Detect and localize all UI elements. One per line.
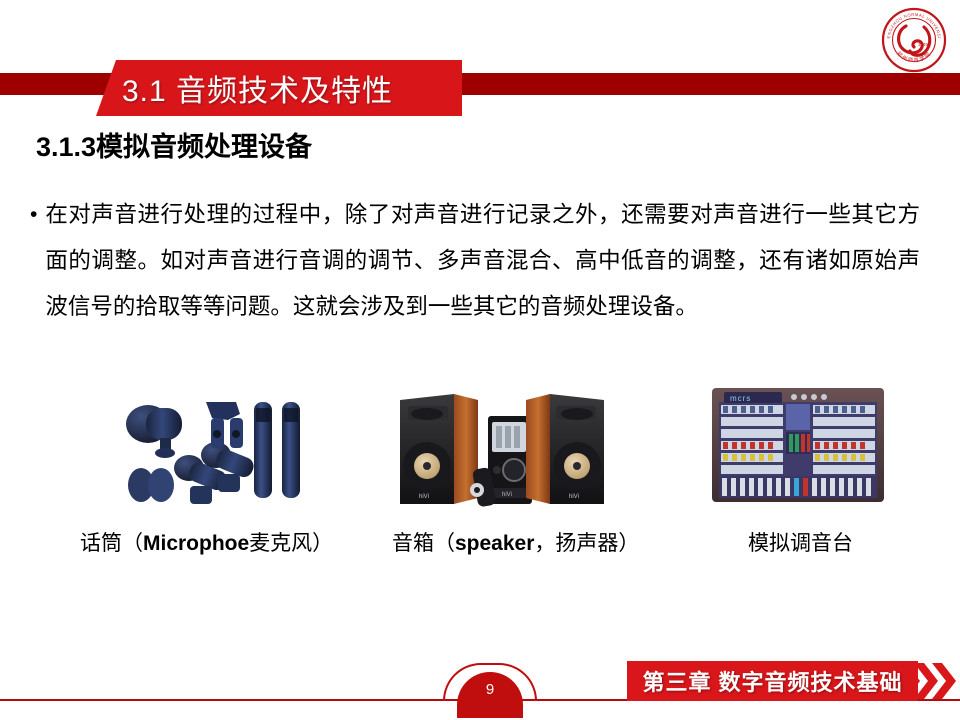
svg-text:hiVi: hiVi	[419, 494, 429, 500]
page-number: 9	[457, 672, 523, 706]
caption-speaker-prefix: 音箱（	[392, 532, 455, 555]
content-body: • 在对声音进行处理的过程中，除了对声音进行记录之外，还需要对声音进行一些其它方…	[30, 192, 920, 330]
section-title-text: 3.1 音频技术及特性	[122, 60, 462, 116]
caption-microphone-prefix: 话筒（	[80, 532, 143, 555]
bullet-marker-icon: •	[30, 192, 45, 238]
svg-text:hiVi: hiVi	[502, 492, 512, 498]
caption-speaker-suffix: ，扬声器）	[534, 532, 639, 555]
bullet-list-item: • 在对声音进行处理的过程中，除了对声音进行记录之外，还需要对声音进行一些其它方…	[30, 192, 920, 330]
figure-row: hiVi hiVi hiVi	[40, 384, 930, 514]
caption-speaker-term: speaker	[455, 532, 534, 555]
chevron-right-icon	[896, 661, 960, 701]
caption-speaker: 音箱（speaker，扬声器）	[392, 527, 639, 557]
chapter-label: 第三章 数字音频技术基础	[627, 661, 918, 701]
figure-microphone-set	[108, 384, 330, 510]
caption-mixer: 模拟调音台	[748, 527, 853, 557]
figure-captions: 话筒（Microphoe麦克风） 音箱（speaker，扬声器） 模拟调音台	[0, 527, 960, 561]
svg-text:hiVi: hiVi	[569, 494, 579, 500]
caption-microphone-suffix: 麦克风）	[249, 532, 333, 555]
page-title: 3.1.3模拟音频处理设备	[36, 125, 312, 164]
figure-speaker-system: hiVi hiVi hiVi	[392, 384, 612, 510]
caption-mixer-text: 模拟调音台	[748, 532, 853, 555]
caption-microphone-term: Microphoe	[143, 532, 249, 555]
figure-mixing-console: mcrs	[708, 384, 888, 506]
university-logo: ZHENGZHOU NORMAL UNIVERSITY 郑州师范学院 1949	[880, 6, 948, 74]
bullet-paragraph-text: 在对声音进行处理的过程中，除了对声音进行记录之外，还需要对声音进行一些其它方面的…	[45, 192, 920, 330]
caption-microphone: 话筒（Microphoe麦克风）	[80, 527, 333, 557]
svg-text:mcrs: mcrs	[730, 394, 751, 403]
svg-text:1949: 1949	[918, 42, 928, 47]
